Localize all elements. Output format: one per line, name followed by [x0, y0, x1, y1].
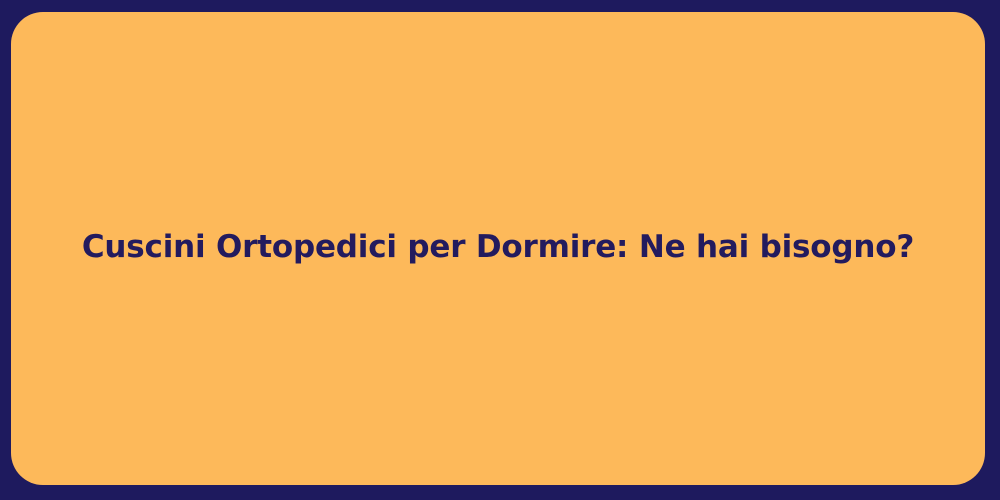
page-title: Cuscini Ortopedici per Dormire: Ne hai b… [82, 229, 914, 266]
page-frame: Cuscini Ortopedici per Dormire: Ne hai b… [0, 0, 1000, 500]
content-card: Cuscini Ortopedici per Dormire: Ne hai b… [11, 12, 985, 485]
headline-container: Cuscini Ortopedici per Dormire: Ne hai b… [11, 229, 985, 268]
